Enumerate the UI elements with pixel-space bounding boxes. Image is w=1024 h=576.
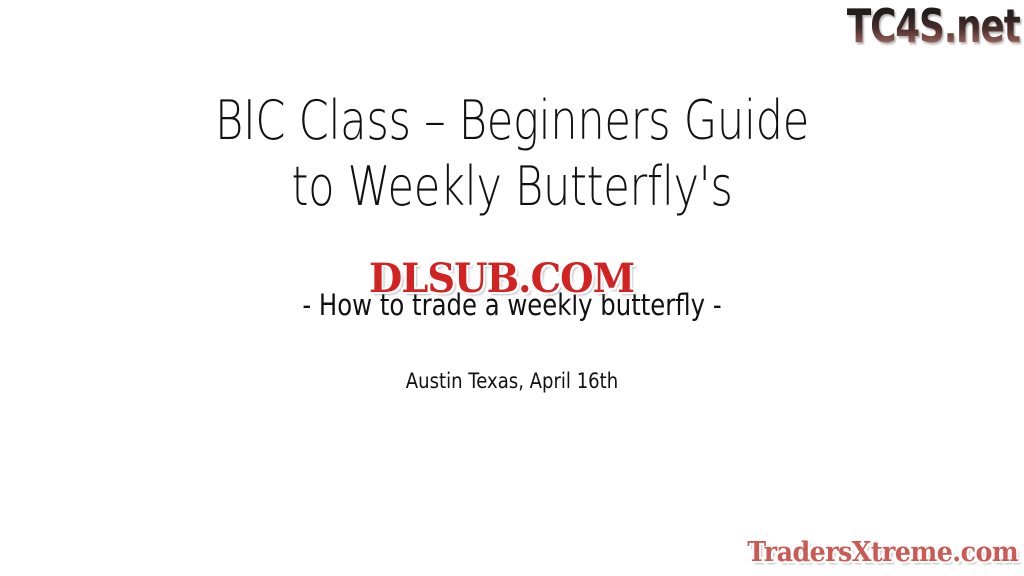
slide-subtitle-venue: Austin Texas, April 16th: [72, 369, 953, 393]
watermark-tradersxtreme-com: TradersXtreme.com: [747, 538, 1018, 568]
watermark-tc4s-net: TC4S.net: [847, 2, 1020, 50]
slide-title: BIC Class – Beginners Guide to Weekly Bu…: [0, 88, 1024, 220]
slide-title-line-2: to Weekly Butterfly's: [102, 154, 921, 220]
watermark-dlsub-com: DLSUB.COM: [369, 258, 634, 300]
slide-title-line-1: BIC Class – Beginners Guide: [102, 88, 921, 154]
presentation-slide: TC4S.net TC4S.net BIC Class – Beginners …: [0, 0, 1024, 576]
